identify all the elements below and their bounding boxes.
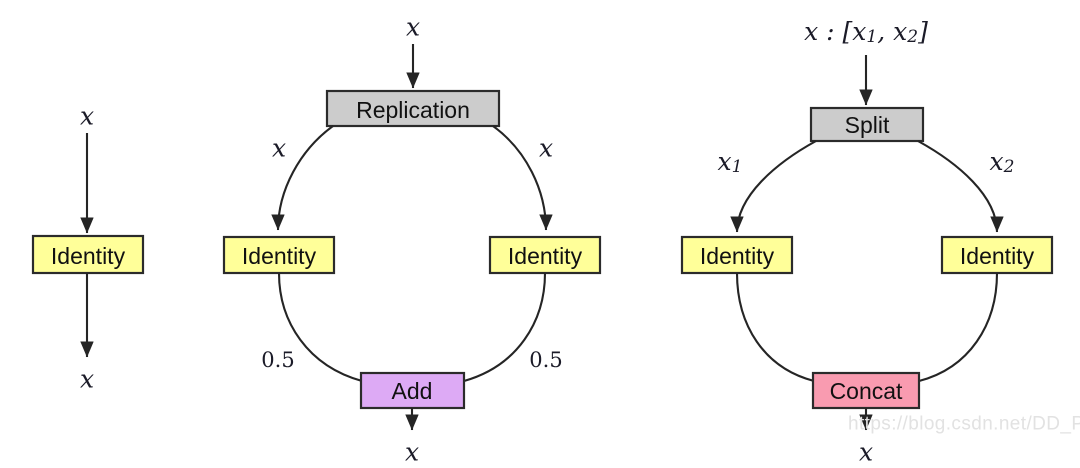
edge-label-x1-base: x <box>718 147 732 176</box>
output-label-x: x <box>859 438 873 467</box>
node-identity-left[interactable]: Identity <box>682 237 792 273</box>
edge-label-x2: x2 <box>990 147 1015 178</box>
identity-right-box-label: Identity <box>508 243 583 269</box>
node-concat[interactable]: Concat <box>813 373 919 408</box>
output-label-x: x <box>405 438 419 467</box>
edge-label-right-bottom-weight: 0.5 <box>529 348 562 372</box>
input-label-x: x <box>80 102 94 131</box>
diagram-canvas: x Identity x x Replication x x Identity … <box>0 0 1080 468</box>
watermark-text: https://blog.csdn.net/DD_PP_JJ <box>848 414 1080 435</box>
node-replication[interactable]: Replication <box>327 91 499 126</box>
edge-label-x2-base: x <box>990 147 1004 176</box>
concat-box-label: Concat <box>830 378 903 404</box>
identity-block-diagram: x Identity x <box>33 102 143 394</box>
edge-replication-to-identity-left <box>278 126 333 230</box>
edge-label-x1-sub: 1 <box>732 157 743 177</box>
split-concat-diagram: x : [x1, x2] Split x1 x2 Identity Identi… <box>682 17 1052 467</box>
identity-left-box-label: Identity <box>242 243 317 269</box>
replication-box-label: Replication <box>356 97 470 123</box>
input-label-x: x <box>406 13 420 42</box>
edge-label-right-top-x: x <box>539 134 553 163</box>
edge-split-to-identity-left <box>737 141 816 232</box>
node-split[interactable]: Split <box>811 108 923 141</box>
identity-right-box-label: Identity <box>960 243 1035 269</box>
input-label-close: ] <box>917 17 928 46</box>
identity-box-label: Identity <box>51 243 126 269</box>
input-label-x-vector: x : [x1, x2] <box>804 17 928 48</box>
input-label-sub1: 1 <box>866 27 877 47</box>
split-box-label: Split <box>845 112 890 138</box>
edge-label-left-top-x: x <box>272 134 286 163</box>
node-identity[interactable]: Identity <box>33 236 143 273</box>
node-identity-right[interactable]: Identity <box>490 237 600 273</box>
edge-label-x2-sub: 2 <box>1003 157 1015 177</box>
edge-identity-left-to-concat <box>737 273 814 381</box>
node-add[interactable]: Add <box>361 373 464 408</box>
input-label-base: x : [x <box>804 17 866 46</box>
edge-identity-right-to-concat <box>919 273 997 381</box>
output-label-x: x <box>80 365 94 394</box>
input-label-mid: , x <box>877 17 907 46</box>
input-label-sub2: 2 <box>906 27 918 47</box>
edge-split-to-identity-right <box>918 141 997 232</box>
replication-add-diagram: x Replication x x Identity Identity 0.5 … <box>224 13 600 467</box>
add-box-label: Add <box>392 378 433 404</box>
edge-label-x1: x1 <box>718 147 743 178</box>
node-identity-left[interactable]: Identity <box>224 237 334 273</box>
edge-label-left-bottom-weight: 0.5 <box>261 348 294 372</box>
node-identity-right[interactable]: Identity <box>942 237 1052 273</box>
identity-left-box-label: Identity <box>700 243 775 269</box>
